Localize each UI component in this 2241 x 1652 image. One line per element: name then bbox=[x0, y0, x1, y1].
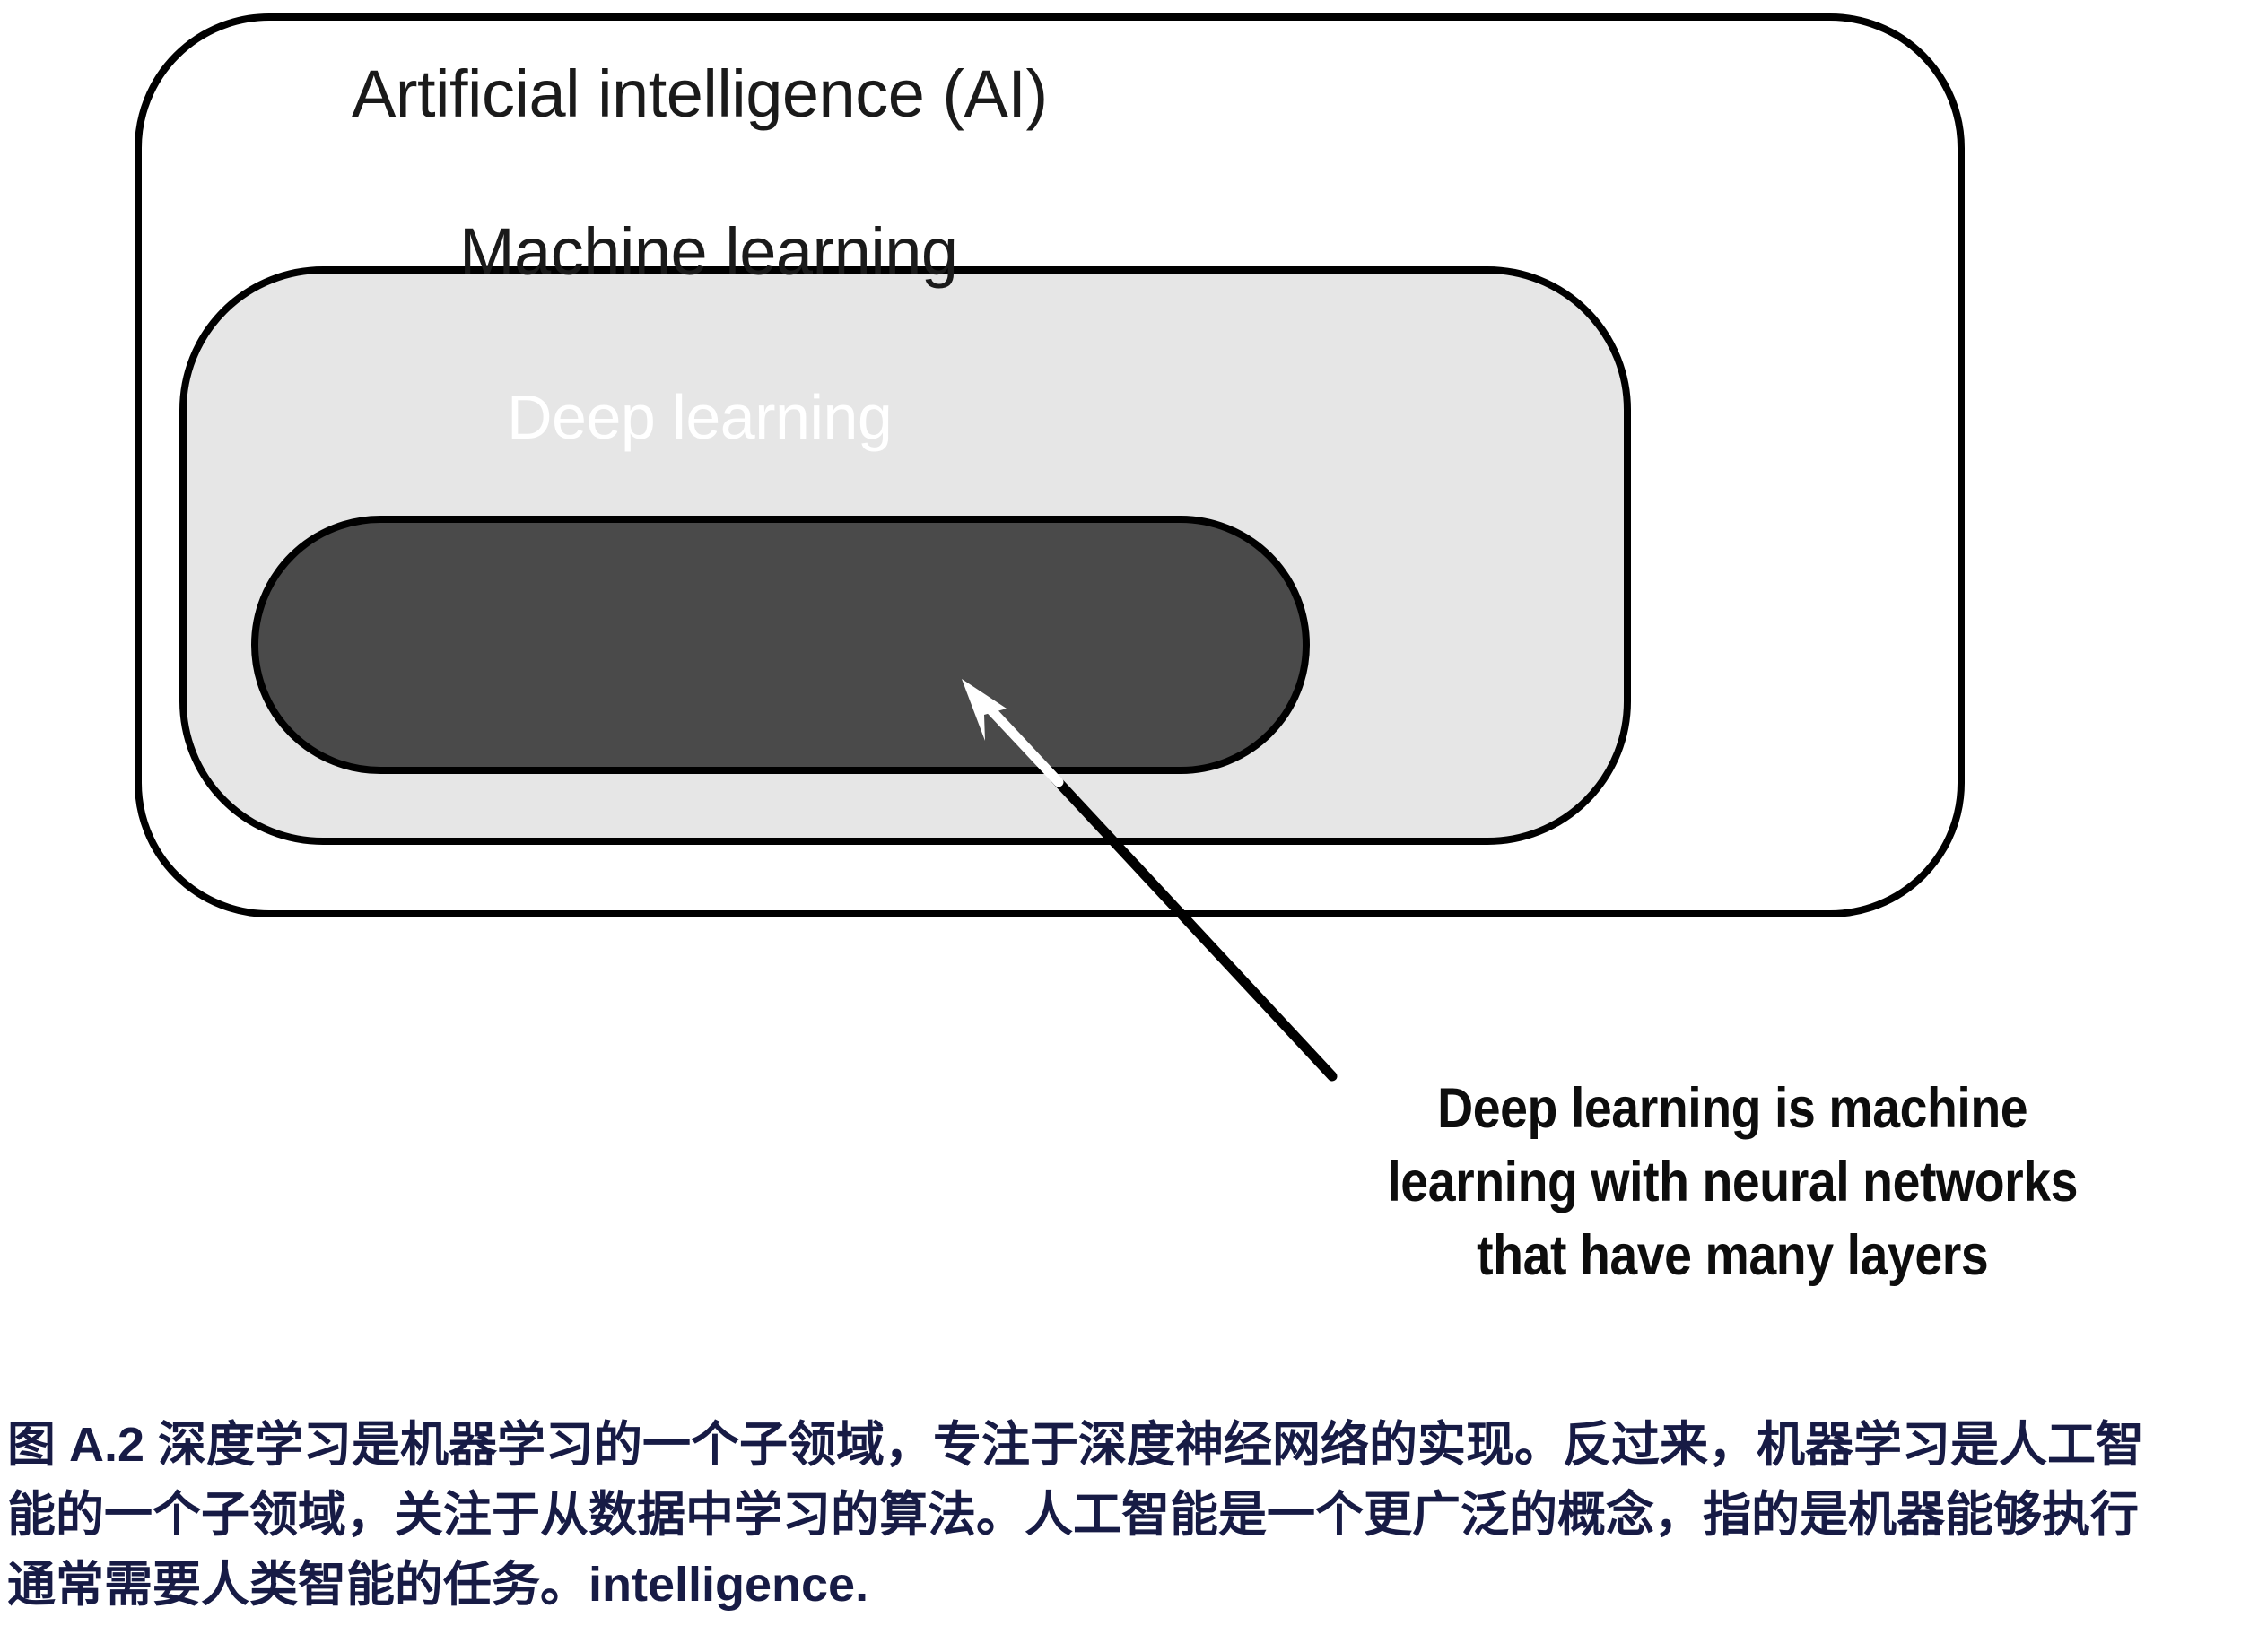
caption-line-3: 通常需要人类智能的任务。intelligence. bbox=[7, 1550, 2237, 1620]
annotation-callout-text: Deep learning is machine learning with n… bbox=[1346, 1072, 2119, 1292]
caption-line-2: 能的一个子领域，关注于从数据中学习的算法。人工智能是一个更广泛的概念，指的是机器… bbox=[7, 1480, 2237, 1550]
figure-diagram: Artificial intelligence (AI) Machine lea… bbox=[0, 0, 2241, 1399]
annotation-line-3: that have many layers bbox=[1346, 1219, 2119, 1292]
deep-learning-set-label: Deep learning bbox=[507, 381, 892, 453]
annotation-line-2: learning with neural networks bbox=[1346, 1145, 2119, 1219]
machine-learning-set-label: Machine learning bbox=[459, 213, 958, 290]
ai-set-label: Artificial intelligence (AI) bbox=[352, 56, 1048, 132]
deep-learning-set-box bbox=[251, 516, 1310, 774]
annotation-line-1: Deep learning is machine bbox=[1346, 1072, 2119, 1145]
figure-caption: 图 A.2 深度学习是机器学习的一个子领域，专注于深度神经网络的实现。反过来，机… bbox=[7, 1410, 2237, 1620]
caption-line-1: 图 A.2 深度学习是机器学习的一个子领域，专注于深度神经网络的实现。反过来，机… bbox=[7, 1410, 2237, 1480]
